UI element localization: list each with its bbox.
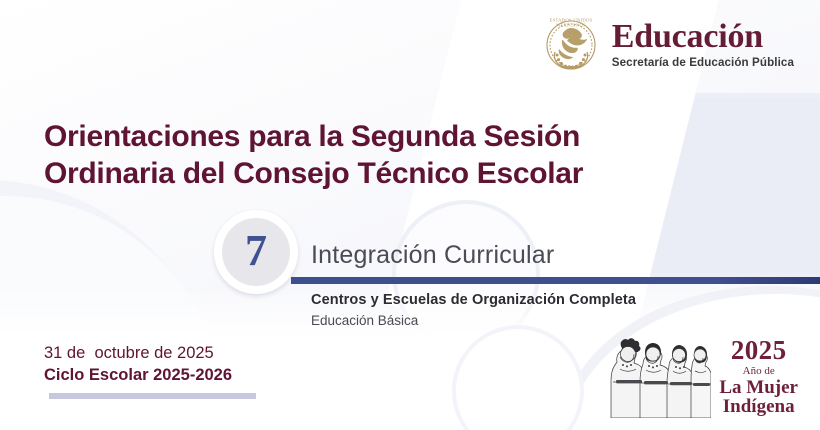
emblem-year: 2025 <box>731 337 787 364</box>
page-title-line-2: Ordinaria del Consejo Técnico Escolar <box>44 156 684 193</box>
sep-logo-lockup: ESTADOS UNIDOS MEXICANOS Educación Secre… <box>539 14 794 74</box>
emblem-line-2: Indígena <box>723 397 795 416</box>
session-number: 7 <box>245 229 267 273</box>
brand-name: Educación <box>612 20 794 54</box>
blue-divider-bar <box>291 277 820 284</box>
session-date: 31 de octubre de 2025 <box>44 344 214 363</box>
emblem-prefix: Año de <box>743 366 775 377</box>
department-name: Secretaría de Educación Pública <box>612 57 794 69</box>
page-title-line-1: Orientaciones para la Segunda Sesión <box>44 120 580 153</box>
year-emblem-text: 2025 Año de La Mujer Indígena <box>719 337 798 418</box>
emblem-line-1: La Mujer <box>719 378 798 397</box>
session-scope: Centros y Escuelas de Organización Compl… <box>311 292 636 308</box>
mexican-coat-of-arms-icon: ESTADOS UNIDOS MEXICANOS <box>539 14 603 74</box>
school-cycle: Ciclo Escolar 2025-2026 <box>44 366 232 385</box>
sep-wordmark: Educación Secretaría de Educación Públic… <box>612 20 794 69</box>
lavender-divider-bar <box>49 393 256 399</box>
indigenous-women-illustration-icon <box>607 336 711 418</box>
page-title: Orientaciones para la Segunda Sesión Ord… <box>44 119 684 192</box>
year-emblem: 2025 Año de La Mujer Indígena <box>607 336 798 418</box>
svg-text:MEXICANOS: MEXICANOS <box>556 22 586 27</box>
session-number-badge: 7 <box>214 210 298 294</box>
session-number-badge-inner: 7 <box>222 218 290 286</box>
session-level: Educación Básica <box>311 313 418 328</box>
session-topic: Integración Curricular <box>311 241 554 270</box>
poster-canvas: ESTADOS UNIDOS MEXICANOS Educación Secre… <box>0 0 820 430</box>
